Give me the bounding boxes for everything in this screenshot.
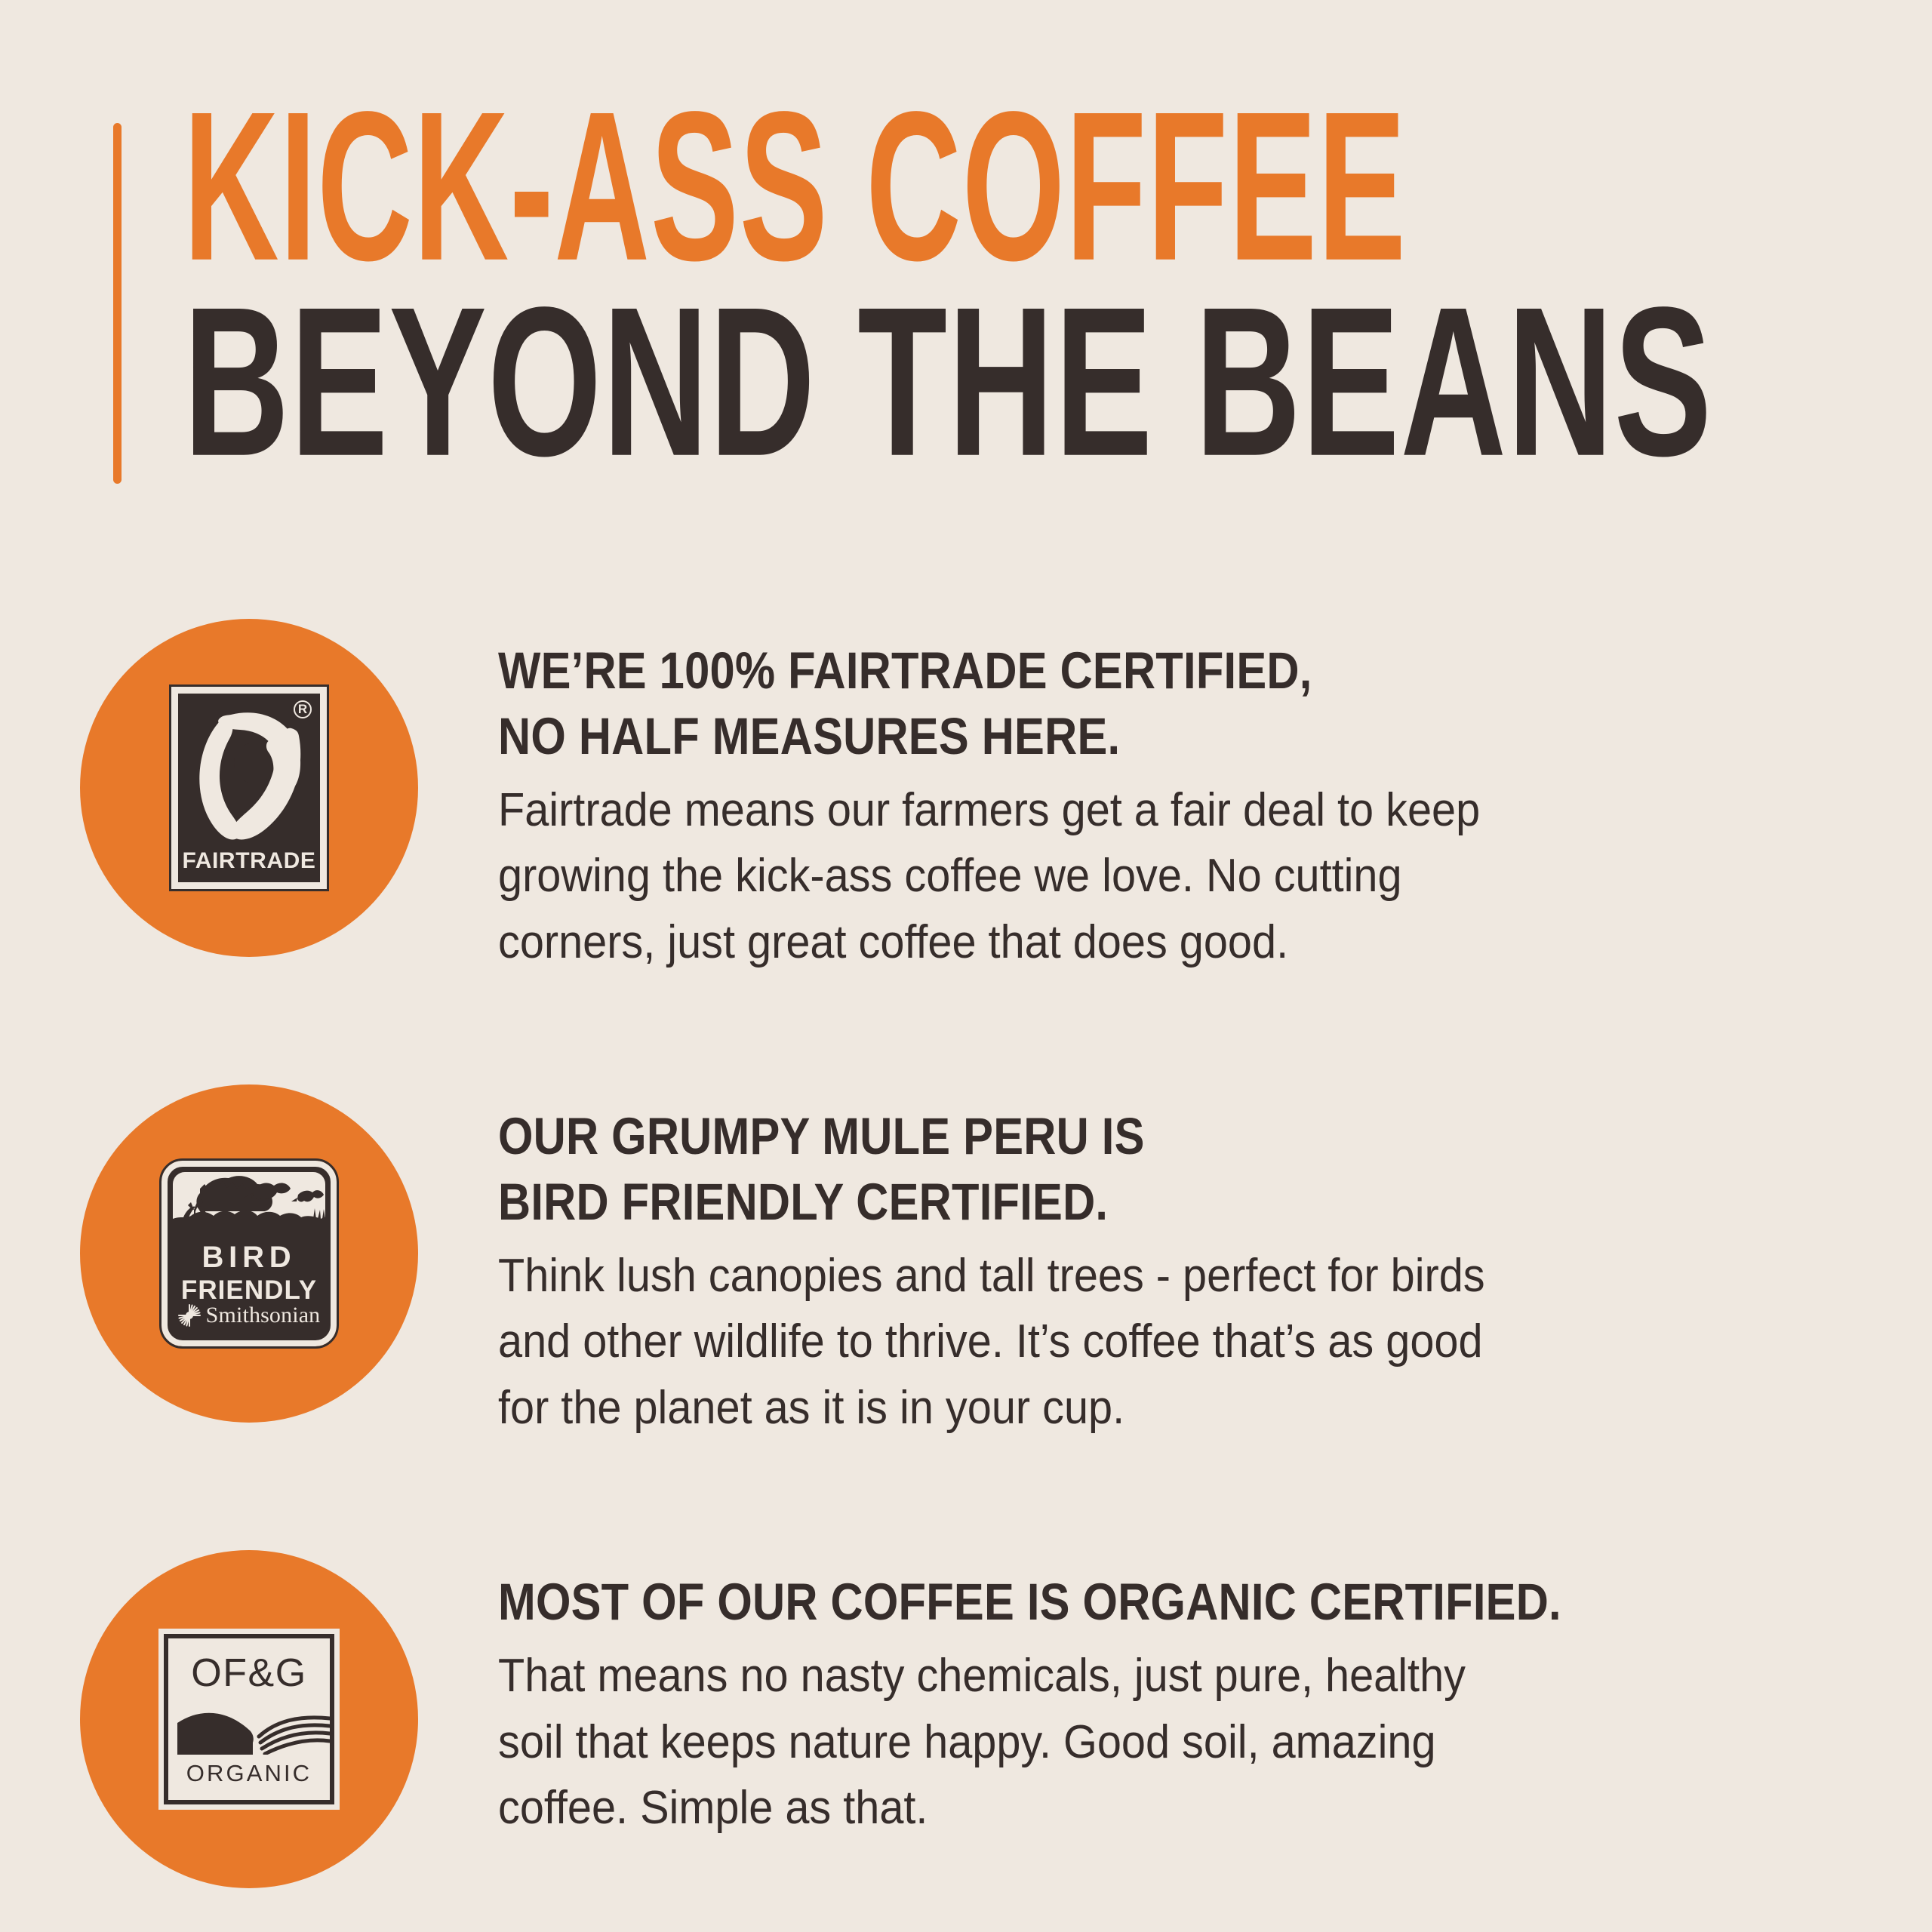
- page-header: KICK-ASS COFFEE BEYOND THE BEANS: [0, 0, 1932, 543]
- text-col-fairtrade: WE’RE 100% FAIRTRADE CERTIFIED, NO HALF …: [498, 619, 1766, 975]
- smithsonian-lockup: Smithsonian: [168, 1303, 331, 1328]
- body-line: That means no nasty chemicals, just pure…: [498, 1643, 1747, 1709]
- organic-wordmark: ORGANIC: [168, 1760, 330, 1787]
- canopy-scene-icon: [173, 1172, 325, 1232]
- body-fairtrade: Fairtrade means our farmers get a fair d…: [498, 777, 1747, 975]
- heading-line: BIRD FRIENDLY CERTIFIED.: [498, 1170, 1523, 1235]
- field-furrows-icon: [177, 1708, 322, 1755]
- certification-row-bird-friendly: BIRD FRIENDLY: [0, 1084, 1932, 1441]
- heading-line: OUR GRUMPY MULE PERU IS: [498, 1104, 1523, 1170]
- body-line: soil that keeps nature happy. Good soil,…: [498, 1709, 1747, 1775]
- text-col-bird-friendly: OUR GRUMPY MULE PERU IS BIRD FRIENDLY CE…: [498, 1084, 1766, 1441]
- smithsonian-wordmark: Smithsonian: [206, 1303, 321, 1328]
- orange-circle-bird-friendly: BIRD FRIENDLY: [80, 1084, 418, 1423]
- heading-fairtrade: WE’RE 100% FAIRTRADE CERTIFIED, NO HALF …: [498, 638, 1523, 770]
- body-line: Fairtrade means our farmers get a fair d…: [498, 777, 1747, 843]
- certification-list: R: [0, 596, 1932, 1888]
- body-line: for the planet as it is in your cup.: [498, 1375, 1747, 1441]
- heading-organic: MOST OF OUR COFFEE IS ORGANIC CERTIFIED.: [498, 1570, 1523, 1635]
- heading-line: MOST OF OUR COFFEE IS ORGANIC CERTIFIED.: [498, 1570, 1523, 1635]
- fairtrade-wordmark: FAIRTRADE: [178, 848, 320, 874]
- heading-line: WE’RE 100% FAIRTRADE CERTIFIED,: [498, 638, 1523, 704]
- badge-wrap-bird-friendly: BIRD FRIENDLY: [0, 1084, 498, 1423]
- title-line-beyond-the-beans: BEYOND THE BEANS: [183, 293, 1445, 472]
- sunburst-icon: [178, 1304, 201, 1327]
- body-organic: That means no nasty chemicals, just pure…: [498, 1643, 1747, 1841]
- orange-accent-bar: [113, 123, 122, 484]
- ofg-organic-icon: OF&G: [164, 1634, 334, 1804]
- body-bird-friendly: Think lush canopies and tall trees - per…: [498, 1243, 1747, 1441]
- infographic-page: KICK-ASS COFFEE BEYOND THE BEANS R: [0, 0, 1932, 1932]
- bird-wordmark: BIRD: [168, 1241, 331, 1275]
- fairtrade-figure-icon: [186, 706, 312, 848]
- page-title: KICK-ASS COFFEE BEYOND THE BEANS: [183, 106, 1844, 463]
- orange-circle-organic: OF&G: [80, 1550, 418, 1888]
- title-line-kick-ass-coffee: KICK-ASS COFFEE: [183, 97, 1321, 276]
- certification-row-fairtrade: R: [0, 619, 1932, 975]
- bird-friendly-icon: BIRD FRIENDLY: [162, 1161, 337, 1346]
- text-col-organic: MOST OF OUR COFFEE IS ORGANIC CERTIFIED.…: [498, 1550, 1766, 1841]
- body-line: growing the kick-ass coffee we love. No …: [498, 843, 1747, 909]
- friendly-wordmark: FRIENDLY: [168, 1275, 331, 1306]
- fairtrade-icon: R: [171, 687, 327, 889]
- heading-line: NO HALF MEASURES HERE.: [498, 704, 1523, 770]
- body-line: Think lush canopies and tall trees - per…: [498, 1243, 1747, 1309]
- body-line: corners, just great coffee that does goo…: [498, 909, 1747, 975]
- certification-row-organic: OF&G: [0, 1550, 1932, 1888]
- badge-wrap-organic: OF&G: [0, 1550, 498, 1888]
- ofg-wordmark: OF&G: [168, 1651, 330, 1696]
- heading-bird-friendly: OUR GRUMPY MULE PERU IS BIRD FRIENDLY CE…: [498, 1104, 1523, 1235]
- badge-wrap-fairtrade: R: [0, 619, 498, 957]
- orange-circle-fairtrade: R: [80, 619, 418, 957]
- body-line: coffee. Simple as that.: [498, 1775, 1747, 1841]
- body-line: and other wildlife to thrive. It’s coffe…: [498, 1309, 1747, 1374]
